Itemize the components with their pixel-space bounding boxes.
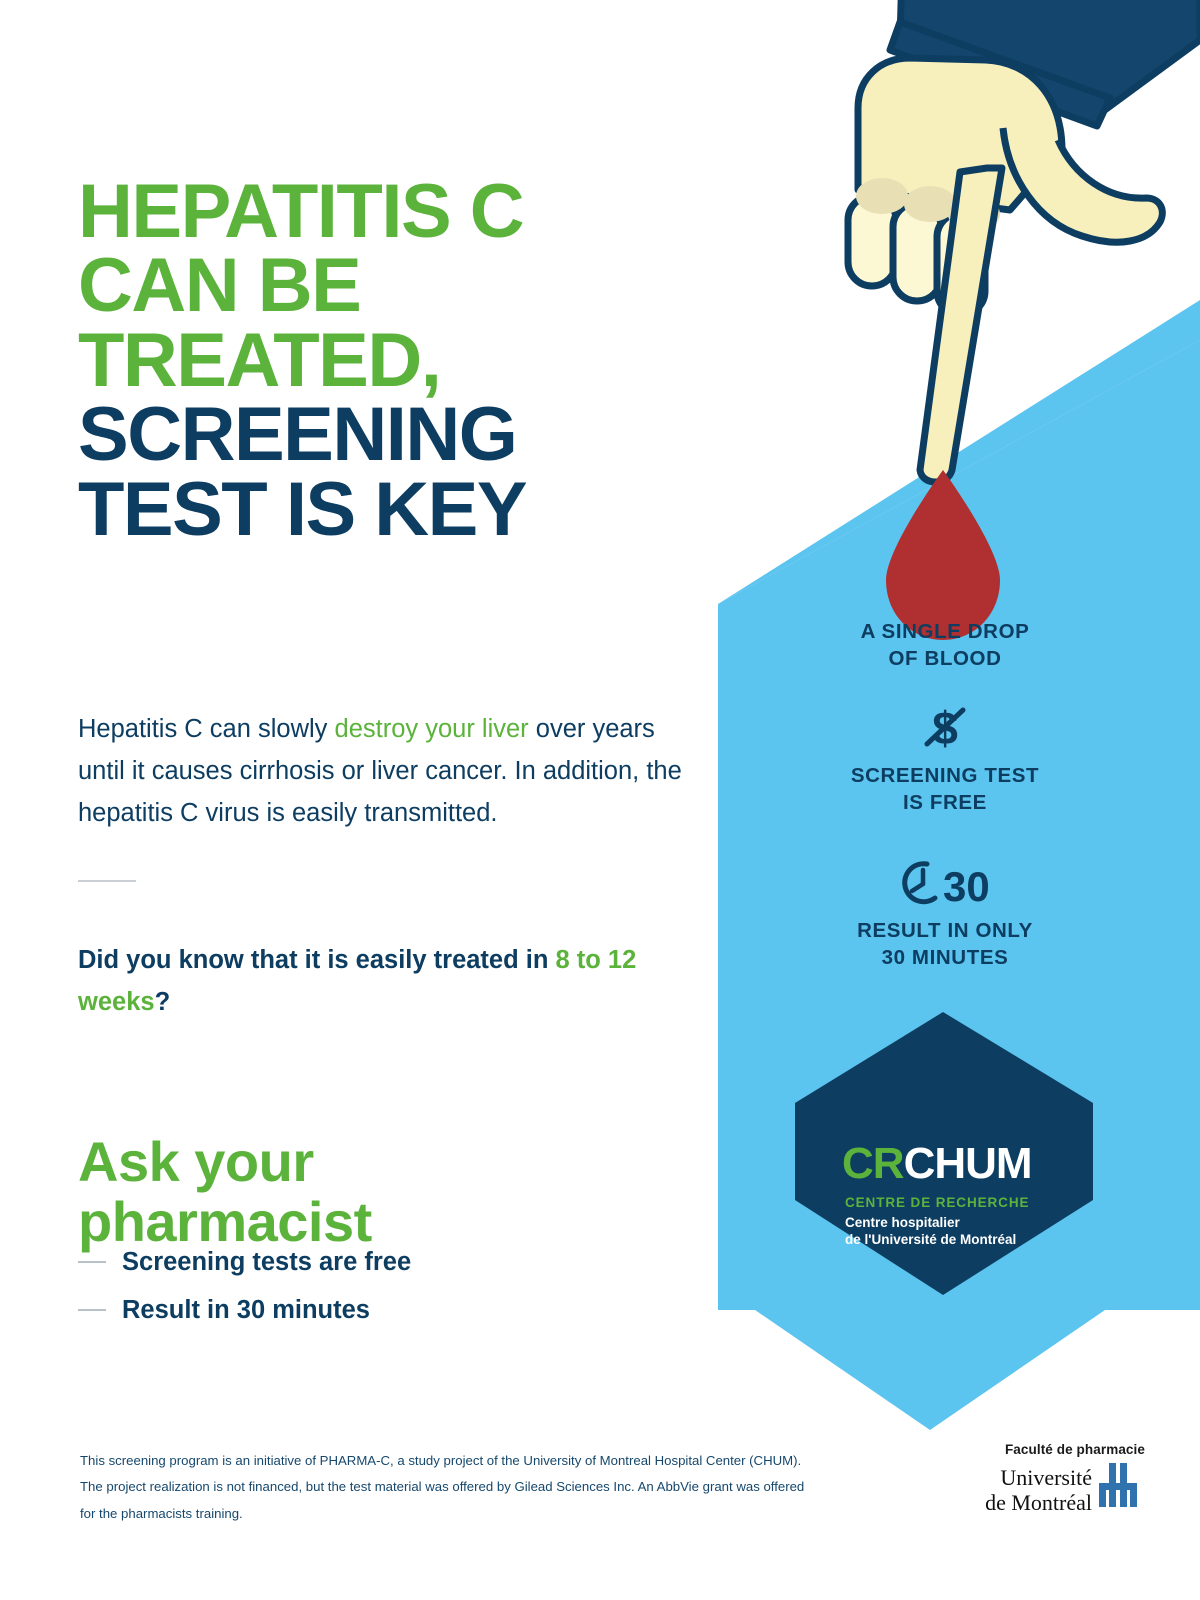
list-item: Result in 30 minutes <box>78 1286 638 1334</box>
panel-time-label: RESULT IN ONLY 30 MINUTES <box>775 917 1115 972</box>
crchum-centre-recherche: CENTRE DE RECHERCHE <box>845 1195 1142 1210</box>
crchum-cr-text: CR <box>842 1139 904 1188</box>
headline-line-1: HEPATITIS C <box>78 175 698 249</box>
dyk-part-1: Did you know that it is easily treated i… <box>78 946 556 974</box>
body-paragraph: Hepatitis C can slowly destroy your live… <box>78 708 698 835</box>
panel-feature-free: $ SCREENING TEST IS FREE <box>775 700 1115 817</box>
panel-blood-line-1: A SINGLE DROP <box>775 618 1115 645</box>
footer-disclaimer: This screening program is an initiative … <box>80 1448 880 1527</box>
udem-m-symbol-icon <box>1099 1463 1145 1507</box>
panel-feature-time: 30 RESULT IN ONLY 30 MINUTES <box>775 855 1115 972</box>
crchum-subtitle-line-2: de l'Université de Montréal <box>845 1231 1142 1248</box>
crchum-chum-text: CHUM <box>904 1139 1032 1188</box>
page-title: HEPATITIS C CAN BE TREATED, SCREENING TE… <box>78 175 698 547</box>
list-item-label: Result in 30 minutes <box>122 1296 370 1325</box>
headline-line-2: CAN BE <box>78 249 698 323</box>
body-highlight: destroy your liver <box>335 715 529 743</box>
knuckle-shadow-1 <box>856 178 908 214</box>
panel-free-label: SCREENING TEST IS FREE <box>775 762 1115 817</box>
ask-pharmacist-title: Ask your pharmacist <box>78 1132 638 1251</box>
udem-name-line-1: Université <box>985 1466 1092 1491</box>
dyk-part-2: ? <box>155 988 171 1016</box>
did-you-know-paragraph: Did you know that it is easily treated i… <box>78 939 698 1024</box>
panel-blood-label: A SINGLE DROP OF BLOOD <box>775 618 1115 673</box>
footer-line-3: for the pharmacists training. <box>80 1501 880 1527</box>
ask-title-line-1: Ask your <box>78 1132 638 1191</box>
clock-icon-value: 30 <box>943 863 990 908</box>
body-part-1: Hepatitis C can slowly <box>78 715 335 743</box>
panel-feature-blood: A SINGLE DROP OF BLOOD <box>775 618 1115 673</box>
crchum-wordmark: CRCHUM <box>842 1142 1142 1186</box>
headline-line-3: TREATED, <box>78 324 698 398</box>
dash-bullet-icon <box>78 1261 106 1263</box>
headline-line-5: TEST IS KEY <box>78 473 698 547</box>
headline-line-4: SCREENING <box>78 398 698 472</box>
panel-time-line-2: 30 MINUTES <box>775 944 1115 971</box>
list-item: Screening tests are free <box>78 1238 638 1286</box>
udem-name: Université de Montréal <box>985 1466 1092 1515</box>
clock-icon-svg: 30 <box>885 858 1005 908</box>
poster-root: HEPATITIS C CAN BE TREATED, SCREENING TE… <box>0 0 1200 1600</box>
panel-free-line-2: IS FREE <box>775 789 1115 816</box>
udem-logo: Faculté de pharmacie Université de Montr… <box>945 1442 1145 1515</box>
ask-pharmacist-list: Screening tests are free Result in 30 mi… <box>78 1238 638 1334</box>
list-item-label: Screening tests are free <box>122 1248 411 1277</box>
panel-free-line-1: SCREENING TEST <box>775 762 1115 789</box>
clock-with-number-icon: 30 <box>775 855 1115 911</box>
udem-faculty-label: Faculté de pharmacie <box>945 1442 1145 1457</box>
hand-thumb <box>1003 128 1162 242</box>
footer-line-2: The project realization is not financed,… <box>80 1474 880 1500</box>
dash-bullet-icon <box>78 1309 106 1311</box>
udem-name-line-2: de Montréal <box>985 1491 1092 1516</box>
dollar-struck-through-icon-svg: $ <box>922 700 968 756</box>
knuckle-shadow-2 <box>904 186 956 222</box>
crchum-subtitle: Centre hospitalier de l'Université de Mo… <box>845 1214 1142 1248</box>
panel-blood-line-2: OF BLOOD <box>775 645 1115 672</box>
crchum-subtitle-line-1: Centre hospitalier <box>845 1214 1142 1231</box>
udem-main-lockup: Université de Montréal <box>945 1463 1145 1515</box>
footer-line-1: This screening program is an initiative … <box>80 1448 880 1474</box>
dollar-struck-through-icon: $ <box>775 700 1115 756</box>
section-divider <box>78 880 136 882</box>
crchum-logo: CRCHUM CENTRE DE RECHERCHE Centre hospit… <box>842 1142 1142 1248</box>
panel-time-line-1: RESULT IN ONLY <box>775 917 1115 944</box>
